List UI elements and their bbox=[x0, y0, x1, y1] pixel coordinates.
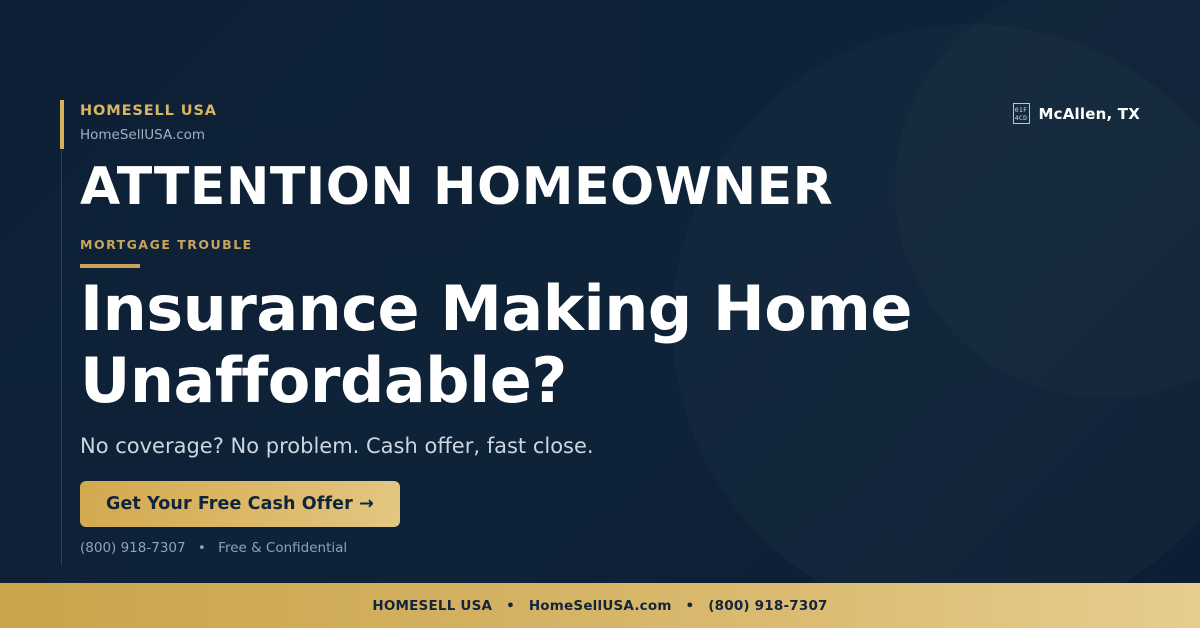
trust-separator: • bbox=[198, 540, 206, 556]
footer-bar: HOMESELL USA • HomeSellUSA.com • (800) 9… bbox=[0, 583, 1200, 628]
headline: Insurance Making Home Unaffordable? bbox=[80, 273, 1060, 417]
cta-button[interactable]: Get Your Free Cash Offer → bbox=[80, 481, 400, 527]
trust-note: Free & Confidential bbox=[218, 540, 347, 556]
left-rail-line bbox=[61, 150, 62, 565]
map-pin-icon-codepoint-top: 01F bbox=[1015, 106, 1028, 114]
attention-banner: ATTENTION HOMEOWNER bbox=[80, 160, 833, 215]
brand-accent-bar bbox=[60, 100, 64, 149]
trust-phone: (800) 918-7307 bbox=[80, 540, 186, 556]
content-area: HOMESELL USA HomeSellUSA.com 01F 4CD McA… bbox=[80, 0, 1140, 628]
footer-contact-line: HOMESELL USA • HomeSellUSA.com • (800) 9… bbox=[372, 598, 827, 614]
trust-line: (800) 918-7307 • Free & Confidential bbox=[80, 541, 347, 556]
footer-website: HomeSellUSA.com bbox=[529, 598, 672, 614]
subheadline: No coverage? No problem. Cash offer, fas… bbox=[80, 434, 594, 459]
footer-phone: (800) 918-7307 bbox=[708, 598, 827, 614]
footer-separator-2: • bbox=[686, 598, 695, 614]
eyebrow-label: MORTGAGE TROUBLE bbox=[80, 238, 253, 252]
ad-creative: HOMESELL USA HomeSellUSA.com 01F 4CD McA… bbox=[0, 0, 1200, 628]
map-pin-icon: 01F 4CD bbox=[1013, 103, 1030, 124]
brand-name: HOMESELL USA bbox=[80, 104, 217, 120]
footer-brand: HOMESELL USA bbox=[372, 598, 492, 614]
location-badge: 01F 4CD McAllen, TX bbox=[1013, 103, 1140, 124]
eyebrow-block: MORTGAGE TROUBLE bbox=[80, 238, 253, 268]
map-pin-icon-codepoint-bottom: 4CD bbox=[1015, 114, 1028, 122]
brand-block: HOMESELL USA HomeSellUSA.com bbox=[80, 104, 217, 143]
brand-website: HomeSellUSA.com bbox=[80, 128, 217, 143]
location-label: McAllen, TX bbox=[1039, 105, 1140, 123]
footer-separator-1: • bbox=[506, 598, 515, 614]
eyebrow-underline bbox=[80, 264, 140, 268]
